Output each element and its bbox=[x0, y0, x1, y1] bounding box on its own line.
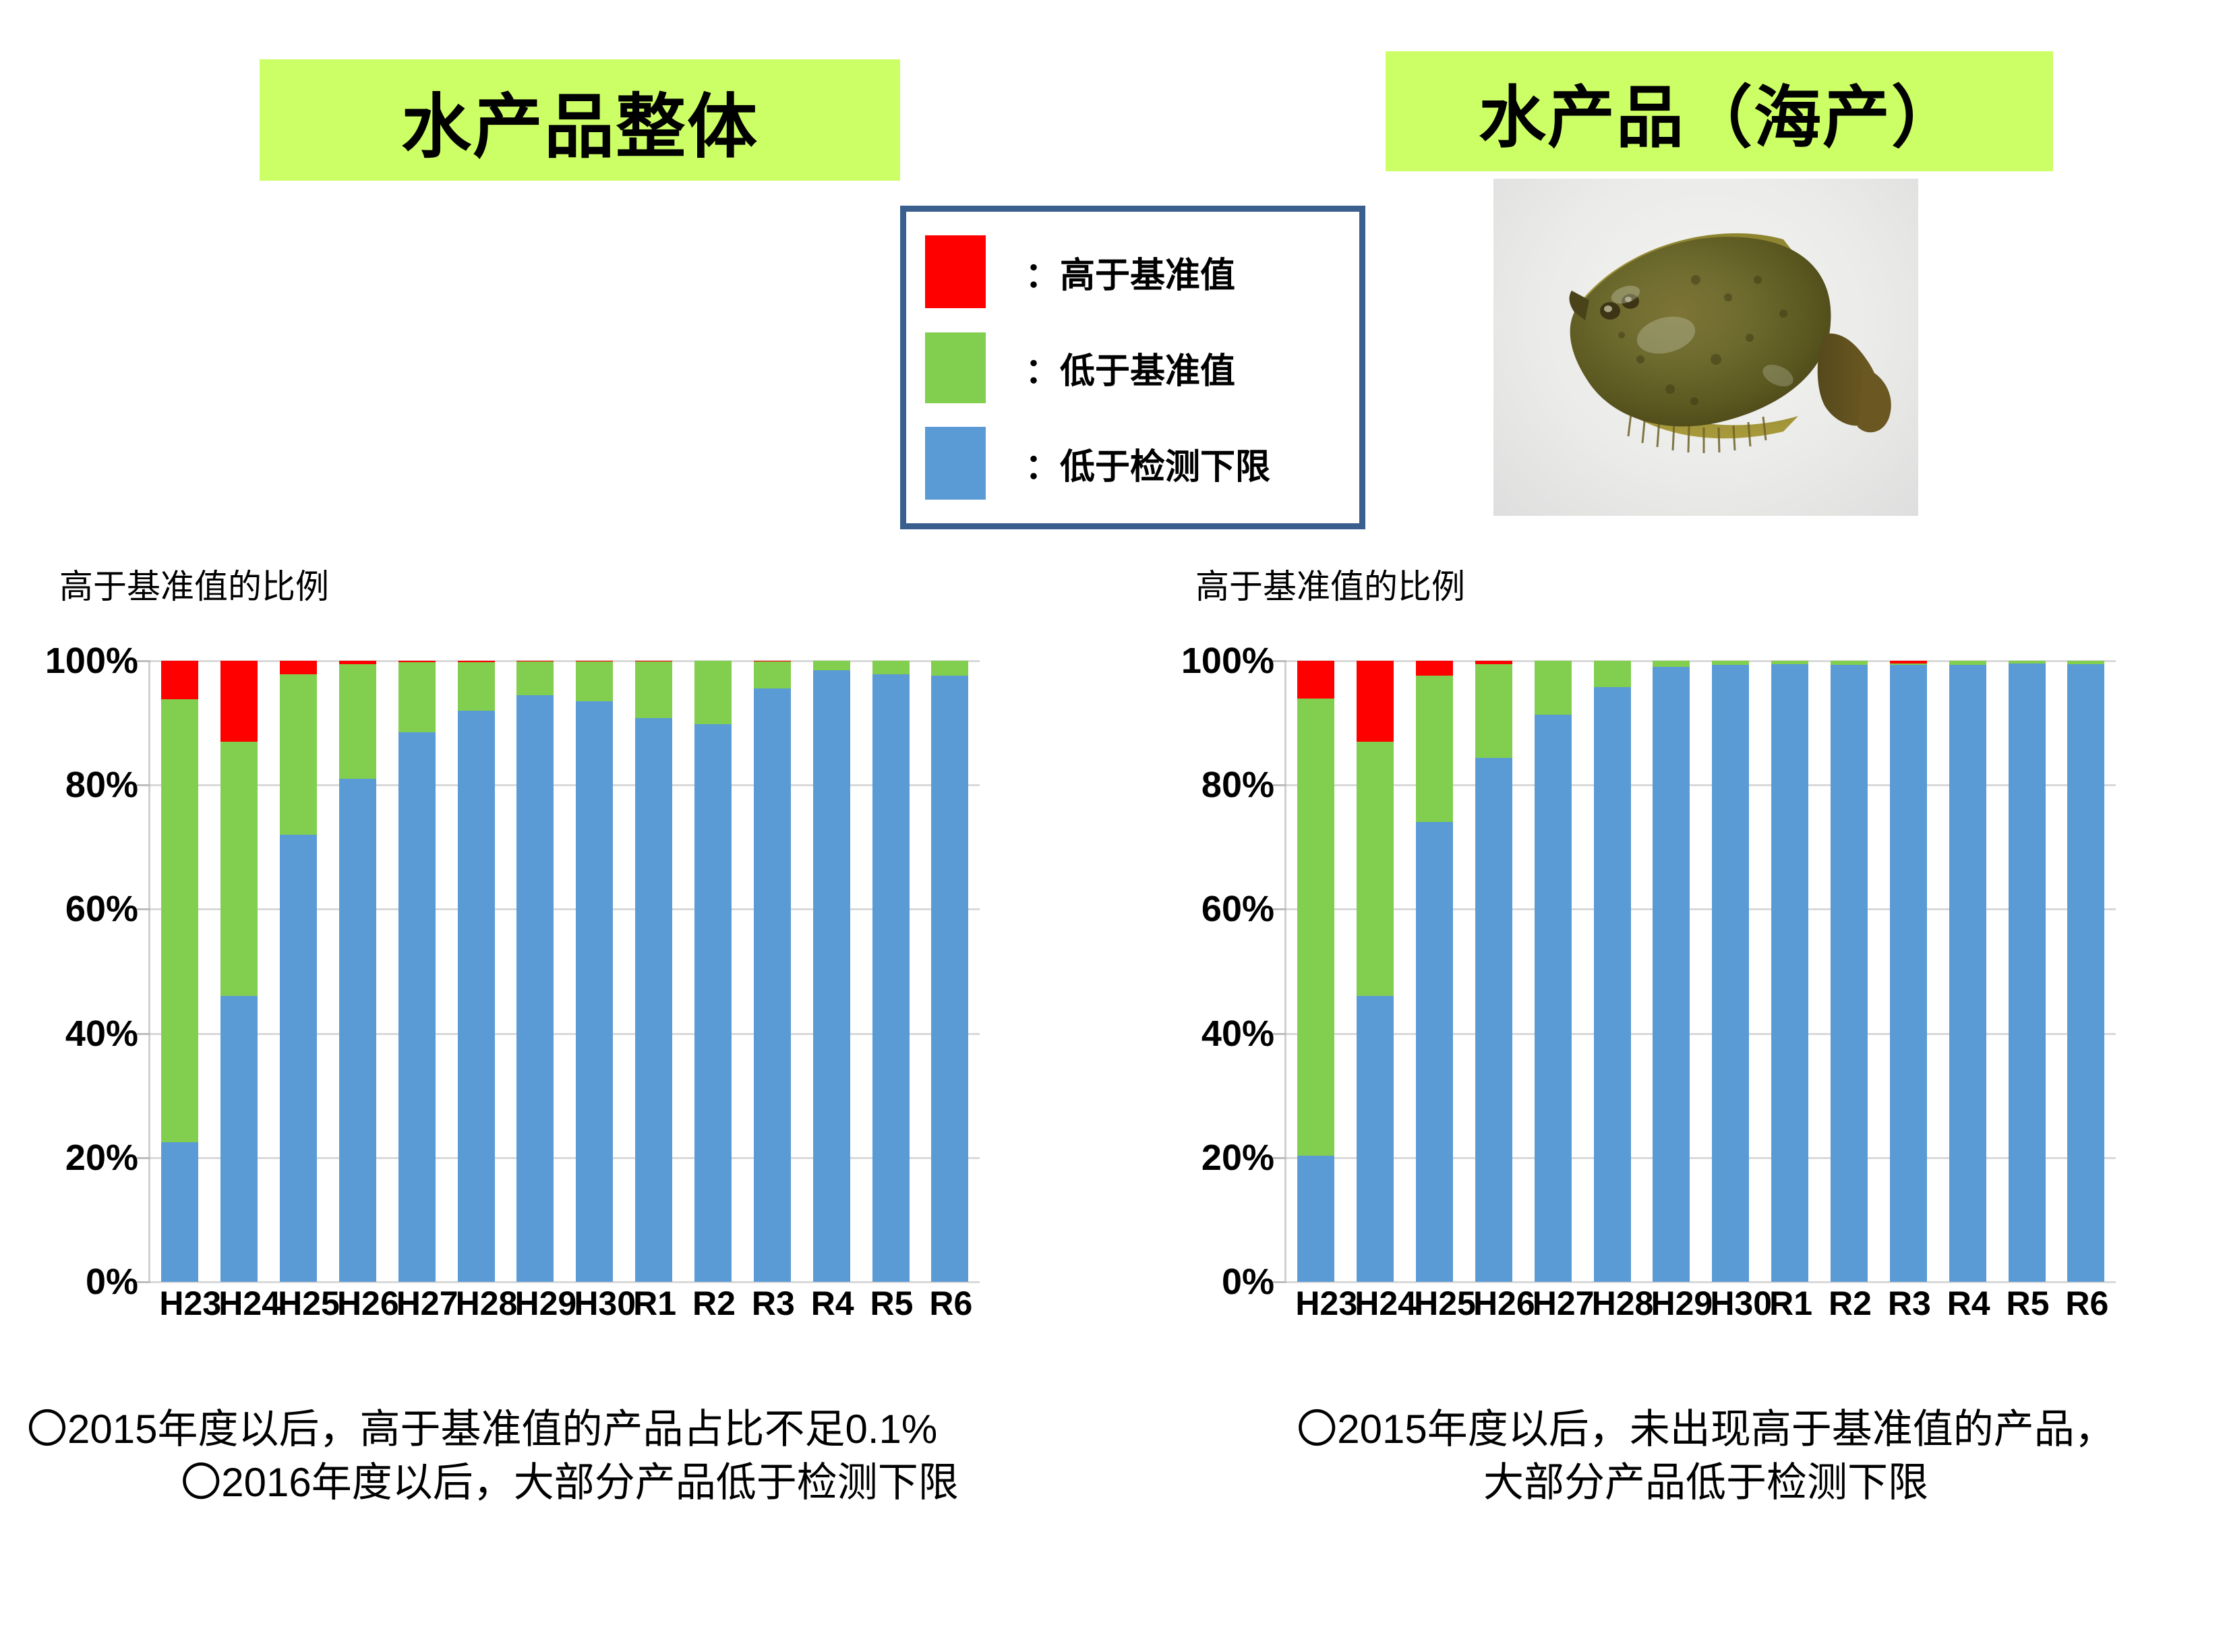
bar-column bbox=[1297, 661, 1334, 1282]
bar-segment bbox=[1416, 661, 1453, 676]
x-tick-label: H26 bbox=[337, 1284, 374, 1323]
legend-swatch-blue-icon bbox=[925, 427, 986, 500]
bar-segment bbox=[516, 661, 554, 695]
bar-segment bbox=[1949, 665, 1986, 1282]
y-tickmark bbox=[137, 660, 150, 662]
x-tick-label: R1 bbox=[633, 1284, 670, 1323]
x-tick-label: R2 bbox=[692, 1284, 730, 1323]
flounder-illustration-icon bbox=[1493, 179, 1918, 516]
x-tick-label: H27 bbox=[396, 1284, 434, 1323]
legend-item-below-standard: ：低于基准值 bbox=[906, 327, 1359, 408]
bar-segment bbox=[813, 661, 850, 670]
x-tick-label: R1 bbox=[1769, 1284, 1806, 1323]
legend-swatch-red-icon bbox=[925, 235, 986, 308]
x-tick-label: H29 bbox=[514, 1284, 552, 1323]
bar-segment bbox=[1475, 758, 1512, 1282]
y-tick-label: 20% bbox=[65, 1137, 138, 1179]
bar-segment bbox=[635, 661, 672, 718]
chart-caption-right: 高于基准值的比例 bbox=[1195, 560, 1465, 608]
x-tick-label: H24 bbox=[1355, 1284, 1392, 1323]
page-title-right: 水产品（海产） bbox=[1386, 51, 2053, 171]
bar-segment bbox=[931, 676, 968, 1282]
bar-segment bbox=[161, 661, 198, 699]
y-tick-label: 40% bbox=[65, 1013, 138, 1055]
y-tick-label: 0% bbox=[86, 1261, 138, 1303]
bar-column bbox=[635, 661, 672, 1282]
y-tickmark bbox=[1273, 908, 1286, 910]
y-tickmark bbox=[1273, 1281, 1286, 1283]
flounder-photo bbox=[1493, 179, 1918, 516]
bar-column bbox=[1475, 661, 1512, 1282]
bar-segment bbox=[1535, 715, 1572, 1282]
bar-column bbox=[576, 661, 613, 1282]
bar-segment bbox=[1594, 661, 1631, 687]
x-tick-label: R5 bbox=[870, 1284, 908, 1323]
bar-column bbox=[813, 661, 850, 1282]
bar-column bbox=[931, 661, 968, 1282]
y-tickmark bbox=[137, 1281, 150, 1283]
x-tick-label: R5 bbox=[2007, 1284, 2044, 1323]
bar-group-right bbox=[1286, 661, 2116, 1282]
bar-segment bbox=[635, 718, 672, 1282]
bar-segment bbox=[280, 661, 317, 674]
y-tick-label: 100% bbox=[45, 640, 138, 682]
bar-segment bbox=[1297, 661, 1334, 699]
bar-segment bbox=[1653, 667, 1690, 1282]
bar-segment bbox=[754, 688, 791, 1282]
chart-panel-marine: 高于基准值的比例 0%20%40%60%80%100% H23H24H25H26… bbox=[1183, 560, 2225, 1369]
y-tickmark bbox=[137, 1033, 150, 1035]
x-tick-label: H23 bbox=[159, 1284, 196, 1323]
bar-column bbox=[280, 661, 317, 1282]
bar-segment bbox=[1297, 699, 1334, 1156]
plot-area-left bbox=[148, 661, 980, 1282]
bar-segment bbox=[516, 695, 554, 1282]
bar-column bbox=[516, 661, 554, 1282]
bar-column bbox=[1357, 661, 1394, 1282]
bar-column bbox=[754, 661, 791, 1282]
bar-segment bbox=[931, 661, 968, 676]
bar-segment bbox=[280, 674, 317, 835]
legend-item-above-standard: ：高于基准值 bbox=[906, 231, 1359, 312]
y-axis-left: 0%20%40%60%80%100% bbox=[47, 661, 145, 1282]
bar-segment bbox=[1357, 742, 1394, 997]
bar-segment bbox=[872, 661, 910, 674]
bar-segment bbox=[1535, 661, 1572, 715]
y-tickmark bbox=[1273, 1157, 1286, 1159]
bar-group-left bbox=[150, 661, 980, 1282]
x-tick-label: H25 bbox=[278, 1284, 315, 1323]
bar-segment bbox=[1357, 996, 1394, 1282]
bar-segment bbox=[398, 662, 436, 732]
x-tick-label: R2 bbox=[1829, 1284, 1866, 1323]
x-axis-left: H23H24H25H26H27H28H29H30R1R2R3R4R5R6 bbox=[148, 1284, 978, 1338]
y-tick-label: 0% bbox=[1222, 1261, 1274, 1303]
y-tick-label: 80% bbox=[65, 764, 138, 806]
x-tick-label: H28 bbox=[1592, 1284, 1629, 1323]
y-tickmark bbox=[1273, 784, 1286, 786]
y-tick-label: 20% bbox=[1201, 1137, 1274, 1179]
notes-left: 〇2015年度以后，高于基准值的产品占比不足0.1% 〇2016年度以后，大部分… bbox=[27, 1403, 1173, 1509]
bar-segment bbox=[2009, 663, 2046, 1282]
bar-segment bbox=[1594, 687, 1631, 1282]
x-tick-label: H27 bbox=[1533, 1284, 1570, 1323]
bar-column bbox=[694, 661, 732, 1282]
bar-segment bbox=[1771, 664, 1808, 1282]
bar-segment bbox=[694, 724, 732, 1282]
x-tick-label: R4 bbox=[811, 1284, 848, 1323]
note-line: 〇2016年度以后，大部分产品低于检测下限 bbox=[27, 1456, 1173, 1509]
bar-segment bbox=[398, 732, 436, 1282]
bar-column bbox=[1416, 661, 1453, 1282]
y-tickmark bbox=[137, 1157, 150, 1159]
bar-segment bbox=[280, 835, 317, 1282]
y-axis-right: 0%20%40%60%80%100% bbox=[1183, 661, 1281, 1282]
legend-label-below-detection-limit: ：低于检测下限 bbox=[1025, 438, 1270, 489]
bar-segment bbox=[1416, 676, 1453, 822]
note-line: 〇2015年度以后，未出现高于基准值的产品， bbox=[1193, 1403, 2218, 1456]
bar-segment bbox=[220, 996, 258, 1282]
bar-segment bbox=[1475, 664, 1512, 758]
y-tick-label: 60% bbox=[1201, 888, 1274, 930]
x-tick-label: R3 bbox=[752, 1284, 789, 1323]
bar-segment bbox=[339, 664, 376, 779]
page-title-left: 水产品整体 bbox=[260, 59, 900, 181]
y-tick-label: 100% bbox=[1181, 640, 1274, 682]
bar-column bbox=[2067, 661, 2104, 1282]
x-tick-label: H25 bbox=[1414, 1284, 1451, 1323]
chart-legend: ：高于基准值 ：低于基准值 ：低于检测下限 bbox=[900, 206, 1365, 529]
y-tick-label: 80% bbox=[1201, 764, 1274, 806]
note-line: 大部分产品低于检测下限 bbox=[1193, 1456, 2218, 1509]
x-tick-label: R6 bbox=[929, 1284, 966, 1323]
bar-column bbox=[458, 661, 495, 1282]
bar-column bbox=[1653, 661, 1690, 1282]
bar-segment bbox=[1712, 665, 1749, 1282]
legend-item-below-detection-limit: ：低于检测下限 bbox=[906, 423, 1359, 504]
bar-segment bbox=[872, 674, 910, 1282]
bar-segment bbox=[576, 661, 613, 701]
bar-segment bbox=[754, 661, 791, 688]
x-tick-label: H23 bbox=[1295, 1284, 1332, 1323]
chart-caption-left: 高于基准值的比例 bbox=[59, 560, 329, 608]
legend-label-below-standard: ：低于基准值 bbox=[1025, 343, 1235, 393]
bar-segment bbox=[339, 779, 376, 1282]
x-tick-label: H29 bbox=[1651, 1284, 1688, 1323]
bar-segment bbox=[458, 662, 495, 711]
plot-area-right bbox=[1284, 661, 2116, 1282]
y-tickmark bbox=[137, 908, 150, 910]
bar-segment bbox=[1653, 661, 1690, 667]
x-tick-label: R3 bbox=[1888, 1284, 1925, 1323]
y-tickmark bbox=[1273, 1033, 1286, 1035]
bar-column bbox=[339, 661, 376, 1282]
legend-label-above-standard: ：高于基准值 bbox=[1025, 247, 1235, 297]
bar-column bbox=[1712, 661, 1749, 1282]
bar-segment bbox=[220, 661, 258, 742]
bar-segment bbox=[813, 670, 850, 1282]
bar-column bbox=[1831, 661, 1868, 1282]
bar-column bbox=[1535, 661, 1572, 1282]
bar-column bbox=[1890, 661, 1927, 1282]
x-tick-label: R4 bbox=[1947, 1284, 1984, 1323]
bar-segment bbox=[576, 701, 613, 1282]
note-line: 〇2015年度以后，高于基准值的产品占比不足0.1% bbox=[27, 1403, 1173, 1456]
bar-column bbox=[1949, 661, 1986, 1282]
bar-segment bbox=[1297, 1156, 1334, 1282]
notes-right: 〇2015年度以后，未出现高于基准值的产品， 大部分产品低于检测下限 bbox=[1193, 1403, 2218, 1509]
bar-segment bbox=[1416, 822, 1453, 1282]
bar-column bbox=[872, 661, 910, 1282]
bar-column bbox=[1594, 661, 1631, 1282]
x-tick-label: H30 bbox=[1710, 1284, 1747, 1323]
x-tick-label: H28 bbox=[456, 1284, 493, 1323]
bar-segment bbox=[161, 699, 198, 1142]
x-tick-label: H24 bbox=[218, 1284, 256, 1323]
bar-segment bbox=[694, 661, 732, 724]
bar-segment bbox=[1831, 665, 1868, 1282]
legend-swatch-green-icon bbox=[925, 332, 986, 403]
x-axis-right: H23H24H25H26H27H28H29H30R1R2R3R4R5R6 bbox=[1284, 1284, 2114, 1338]
y-tick-label: 40% bbox=[1201, 1013, 1274, 1055]
bar-segment bbox=[1890, 665, 1927, 1282]
y-tickmark bbox=[1273, 660, 1286, 662]
bar-segment bbox=[161, 1142, 198, 1282]
bar-segment bbox=[458, 711, 495, 1282]
y-tick-label: 60% bbox=[65, 888, 138, 930]
y-tickmark bbox=[137, 784, 150, 786]
bar-segment bbox=[220, 742, 258, 997]
bar-segment bbox=[2067, 664, 2104, 1282]
bar-segment bbox=[1357, 661, 1394, 742]
bar-column bbox=[161, 661, 198, 1282]
x-tick-label: H30 bbox=[574, 1284, 611, 1323]
bar-column bbox=[2009, 661, 2046, 1282]
bar-column bbox=[398, 661, 436, 1282]
x-tick-label: R6 bbox=[2065, 1284, 2102, 1323]
chart-panel-overall: 高于基准值的比例 0%20%40%60%80%100% H23H24H25H26… bbox=[47, 560, 1126, 1369]
bar-column bbox=[220, 661, 258, 1282]
bar-column bbox=[1771, 661, 1808, 1282]
x-tick-label: H26 bbox=[1473, 1284, 1510, 1323]
